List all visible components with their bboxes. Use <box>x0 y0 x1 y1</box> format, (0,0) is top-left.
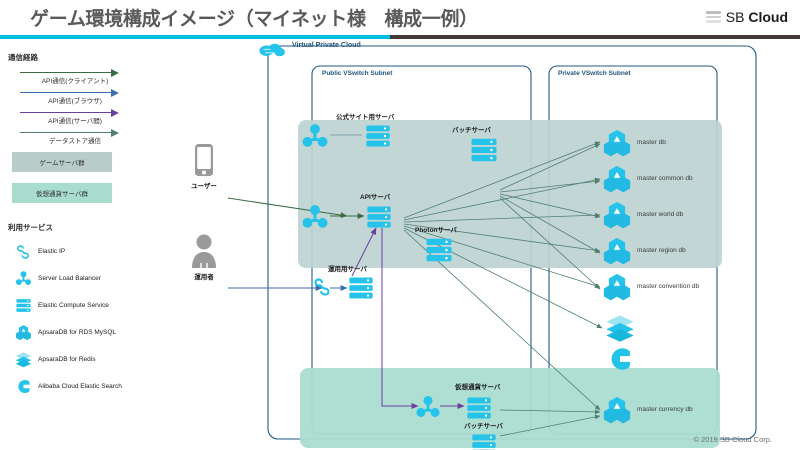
node-label-photon: Photonサーバ <box>415 224 457 234</box>
diagram-vector-layer <box>0 38 800 450</box>
subnet-label-public: Public VSwitch Subnet <box>322 70 392 77</box>
slide-root: ゲーム環境構成イメージ（マイネット様 構成一例） SB Cloud 通信経路 A… <box>0 0 800 450</box>
slide-header: ゲーム環境構成イメージ（マイネット様 構成一例） SB Cloud <box>0 0 800 38</box>
db-label-2: master world db <box>637 211 683 218</box>
db-label-5: master currency db <box>637 406 693 413</box>
actor-label-operator: 運用者 <box>182 271 226 281</box>
subnet-label-private: Private VSwitch Subnet <box>558 70 631 77</box>
db-label-4: master convention db <box>637 283 699 290</box>
brand-first: SB <box>726 9 745 25</box>
db-label-0: master db <box>637 139 666 146</box>
copyright-text: © 2019 SB Cloud Corp. <box>694 435 773 444</box>
architecture-diagram: Virtual Private Cloud Public VSwitch Sub… <box>0 38 800 450</box>
hamburger-logo-icon <box>706 11 721 23</box>
vpc-label: Virtual Private Cloud <box>292 42 361 49</box>
page-title: ゲーム環境構成イメージ（マイネット様 構成一例） <box>30 4 478 31</box>
brand-second: Cloud <box>748 9 788 25</box>
node-label-batch-lower: バッチサーバ <box>464 420 503 430</box>
node-label-ops: 運用用サーバ <box>328 263 367 273</box>
db-label-1: master common db <box>637 175 693 182</box>
brand-text: SB Cloud <box>726 9 788 25</box>
db-label-3: master region db <box>637 247 686 254</box>
node-label-batch-upper: バッチサーバ <box>452 124 491 134</box>
node-label-web: 公式サイト用サーバ <box>336 111 394 121</box>
node-label-api: APIサーバ <box>360 191 390 201</box>
node-label-crypto: 仮想通貨サーバ <box>455 381 500 391</box>
brand-logo: SB Cloud <box>706 9 788 25</box>
actor-label-user: ユーザー <box>182 180 226 190</box>
